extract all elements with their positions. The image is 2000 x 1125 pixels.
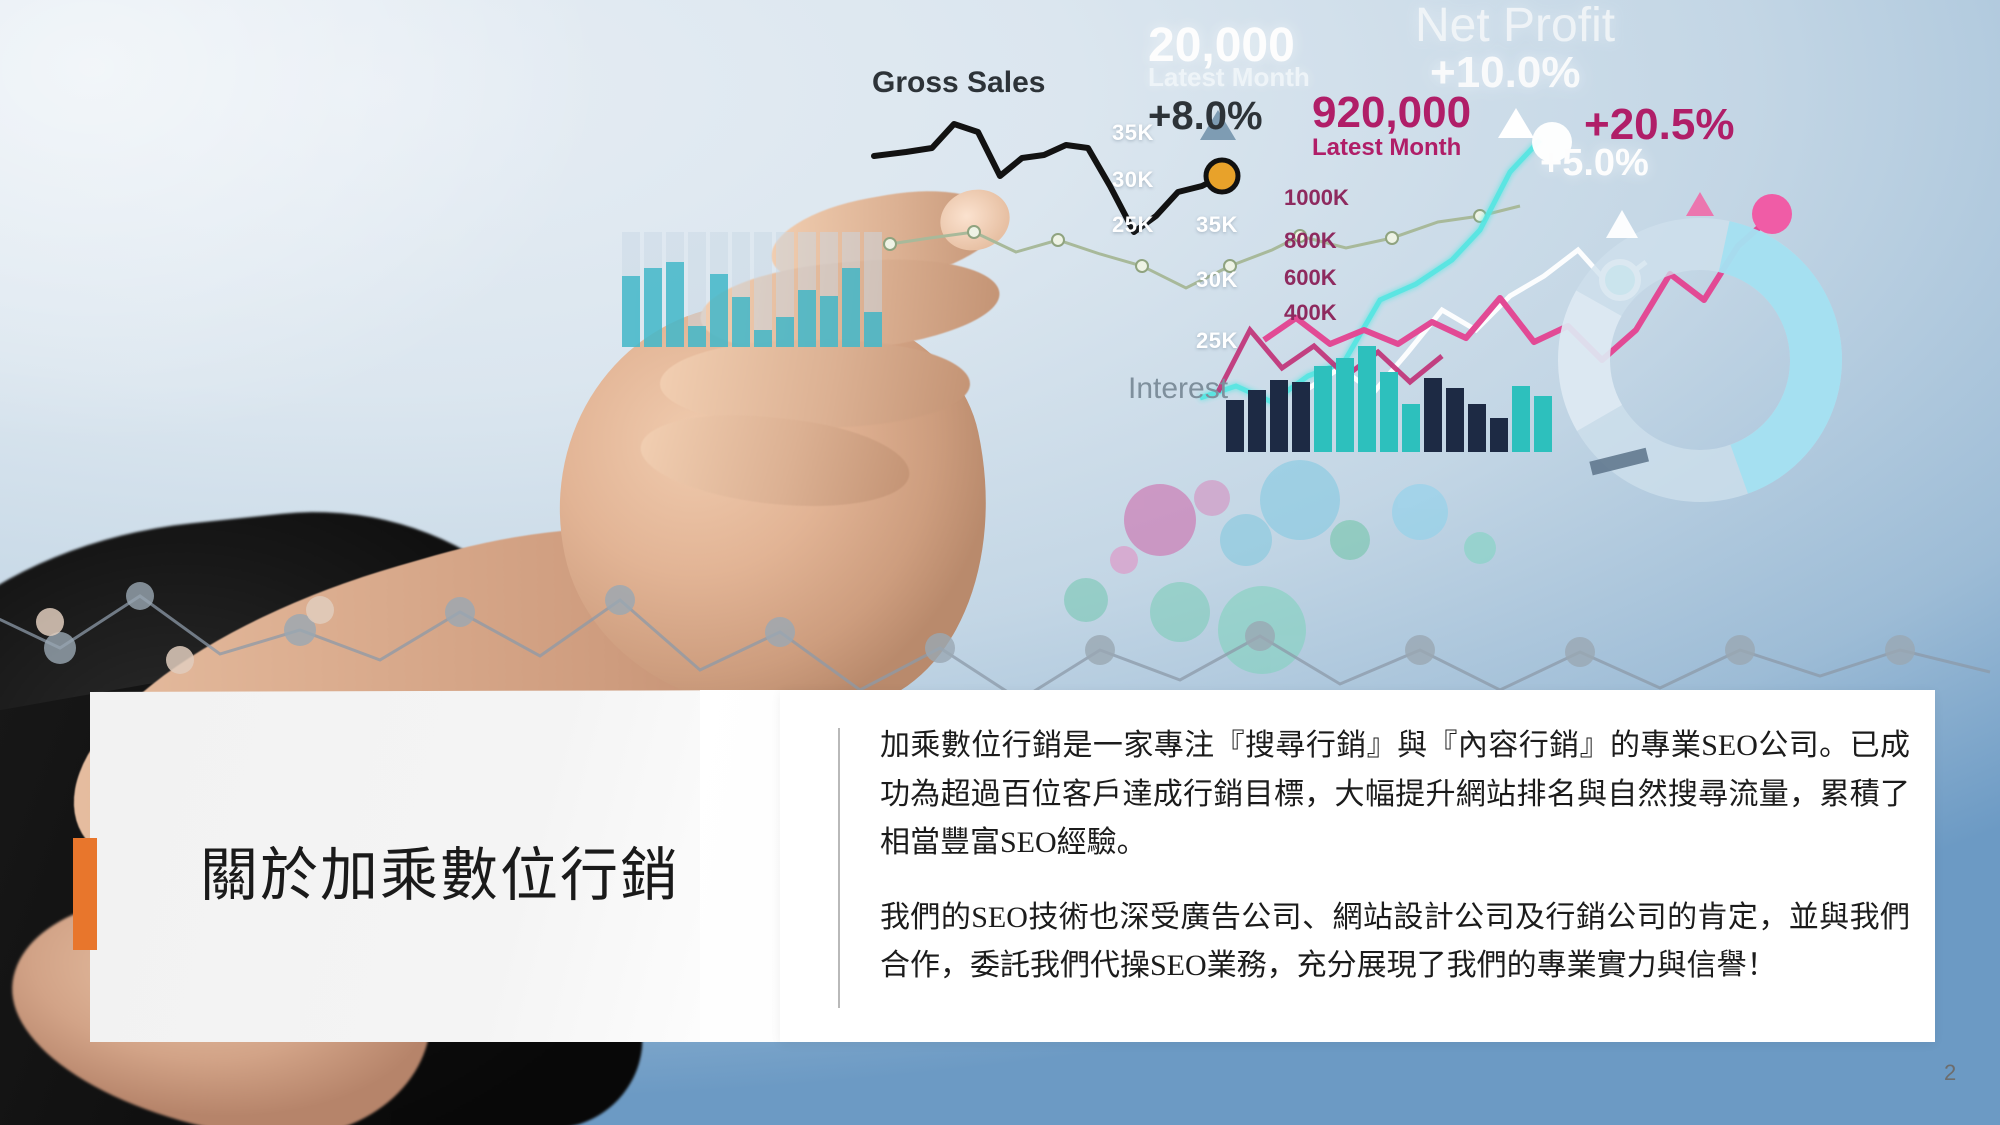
- accent-bar: [73, 838, 97, 950]
- body-paragraph-2: 我們的SEO技術也深受廣告公司、網站設計公司及行銷公司的肯定，並與我們合作，委託…: [880, 894, 1910, 991]
- vertical-divider: [838, 728, 840, 1008]
- page-title: 關於加乘數位行銷: [140, 800, 740, 940]
- page-number: 2: [1944, 1060, 1956, 1086]
- body-paragraph-1: 加乘數位行銷是一家專注『搜尋行銷』與『內容行銷』的專業SEO公司。已成功為超過百…: [880, 722, 1910, 868]
- finger-ring: [660, 340, 970, 428]
- body-text: 加乘數位行銷是一家專注『搜尋行銷』與『內容行銷』的專業SEO公司。已成功為超過百…: [880, 722, 1910, 1017]
- slide-canvas: Gross Sales 20,000 Latest Month +8.0% Ne…: [0, 0, 2000, 1125]
